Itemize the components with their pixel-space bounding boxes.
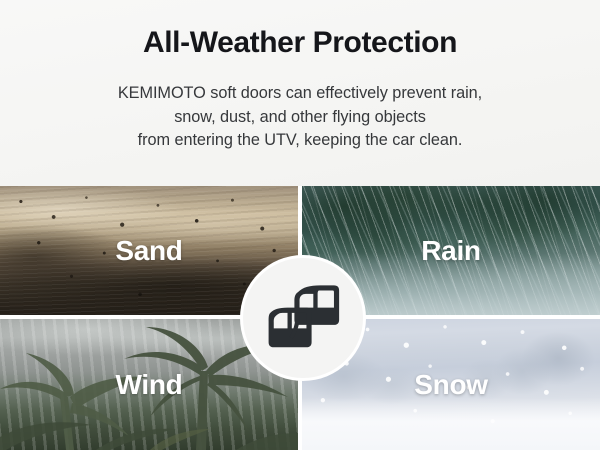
header-section: All-Weather Protection KEMIMOTO soft doo…	[0, 0, 600, 186]
grid-label-sand: Sand	[0, 236, 298, 266]
grid-label-wind: Wind	[0, 370, 298, 400]
subtitle-line-1: KEMIMOTO soft doors can effectively prev…	[118, 82, 482, 106]
subtitle-line-3: from entering the UTV, keeping the car c…	[118, 129, 482, 153]
promo-banner: All-Weather Protection KEMIMOTO soft doo…	[0, 0, 600, 450]
grid-label-snow: Snow	[302, 370, 600, 400]
center-badge	[243, 258, 363, 378]
utv-soft-doors-icon	[260, 275, 346, 361]
subtitle-line-2: snow, dust, and other flying objects	[118, 106, 482, 130]
page-title: All-Weather Protection	[143, 26, 457, 60]
page-subtitle: KEMIMOTO soft doors can effectively prev…	[118, 60, 482, 153]
grid-label-rain: Rain	[302, 236, 600, 266]
